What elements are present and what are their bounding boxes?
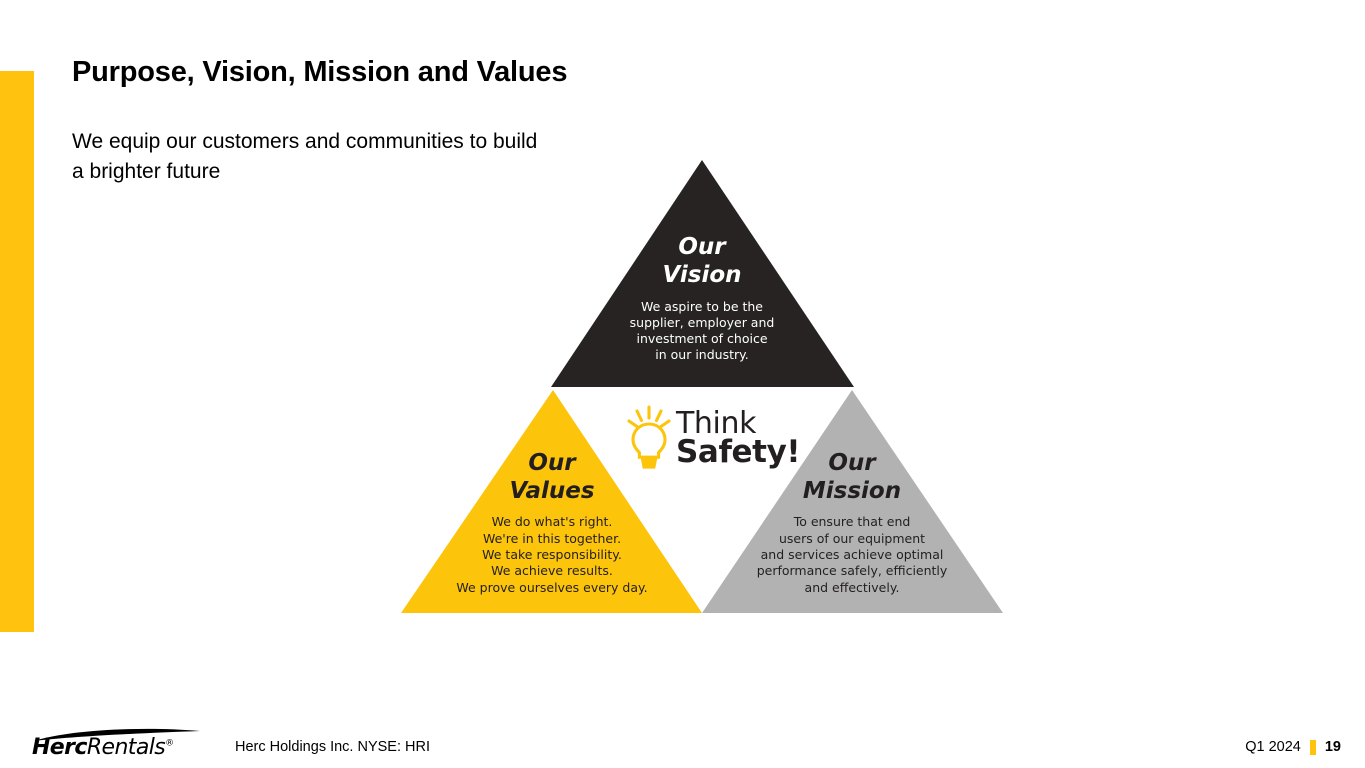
footer-separator <box>1310 740 1316 755</box>
logo-wordmark: HercRentals® <box>32 735 174 760</box>
vision-body-line-2: supplier, employer and <box>630 315 775 330</box>
values-heading-line2: Values <box>509 478 594 504</box>
mission-heading-line1: Our <box>828 450 877 476</box>
vision-heading-line1: Our <box>678 234 727 260</box>
pyramid-diagram: Our Vision We aspire to be the supplier,… <box>395 150 1015 625</box>
values-body-line-3: We take responsibility. <box>482 547 622 562</box>
logo-brand-light: Rentals <box>87 735 165 760</box>
left-accent-bar <box>0 71 34 632</box>
registered-trademark-icon: ® <box>165 739 174 749</box>
values-heading-line1: Our <box>528 450 577 476</box>
footer-meta: Q1 2024 19 <box>1245 739 1341 755</box>
mission-body-line-2: users of our equipment <box>779 531 925 546</box>
values-body-line-4: We achieve results. <box>491 563 613 578</box>
vision-body-line-3: investment of choice <box>636 331 767 346</box>
think-safety-badge: Think Safety! <box>626 398 776 478</box>
mission-body-line-3: and services achieve optimal <box>761 547 944 562</box>
footer-page-number: 19 <box>1325 739 1341 755</box>
logo-brand-bold: Herc <box>32 735 87 760</box>
pyramid-segment-vision[interactable]: Our Vision We aspire to be the supplier,… <box>551 160 854 387</box>
mission-body-line-5: and effectively. <box>805 580 900 595</box>
think-safety-line2: Safety! <box>676 438 800 467</box>
values-body-line-1: We do what's right. <box>492 514 613 529</box>
think-safety-wordmark: Think Safety! <box>676 410 800 467</box>
lightbulb-icon <box>626 405 672 471</box>
vision-heading-line2: Vision <box>662 262 741 288</box>
vision-body-line-4: in our industry. <box>655 347 748 362</box>
footer-company-info: Herc Holdings Inc. NYSE: HRI <box>235 739 430 755</box>
herc-rentals-logo: HercRentals® <box>28 728 208 762</box>
values-body-line-5: We prove ourselves every day. <box>456 580 647 595</box>
mission-body-line-1: To ensure that end <box>793 514 911 529</box>
values-body-line-2: We're in this together. <box>483 531 621 546</box>
footer-quarter: Q1 2024 <box>1245 739 1301 755</box>
vision-body-line-1: We aspire to be the <box>641 299 763 314</box>
page-title: Purpose, Vision, Mission and Values <box>72 56 567 89</box>
mission-heading-line2: Mission <box>803 478 901 504</box>
mission-body-line-4: performance safely, efficiently <box>757 563 948 578</box>
